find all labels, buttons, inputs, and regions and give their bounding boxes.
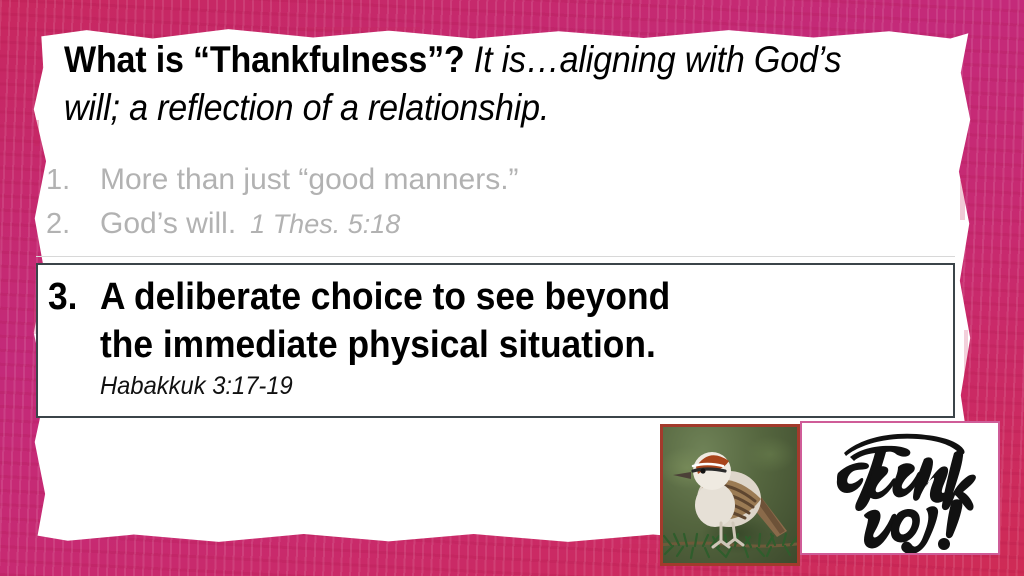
highlighted-point-reference: Habakkuk 3:17-19	[100, 372, 293, 401]
list-item: 1. More than just “good manners.”	[46, 158, 926, 202]
list-item-text: More than just “good manners.”	[100, 158, 519, 202]
divider	[36, 256, 955, 257]
highlighted-point-row: 3. A deliberate choice to see beyond the…	[48, 273, 945, 370]
headline-question: What is “Thankfulness”?	[64, 39, 465, 80]
list-item-reference: 1 Thes. 5:18	[250, 205, 400, 245]
list-item-text: God’s will.	[100, 202, 236, 246]
list-item-number: 2.	[46, 203, 100, 246]
slide: What is “Thankfulness”? It is…aligning w…	[0, 0, 1024, 576]
sparrow-illustration	[663, 427, 797, 563]
chipping-sparrow-photo	[660, 424, 800, 566]
list-item-number: 1.	[46, 159, 100, 202]
highlighted-point-box: 3. A deliberate choice to see beyond the…	[36, 263, 955, 418]
thank-you-card	[800, 421, 1000, 555]
list-item: 2. God’s will. 1 Thes. 5:18	[46, 202, 926, 246]
slide-content: What is “Thankfulness”? It is…aligning w…	[0, 0, 1024, 576]
highlighted-point-number: 3.	[48, 273, 96, 321]
highlighted-point-text: A deliberate choice to see beyond the im…	[100, 273, 670, 370]
thank-you-lettering	[802, 423, 998, 553]
page-title: What is “Thankfulness”? It is…aligning w…	[64, 36, 877, 132]
dimmed-points-list: 1. More than just “good manners.” 2. God…	[46, 158, 926, 247]
